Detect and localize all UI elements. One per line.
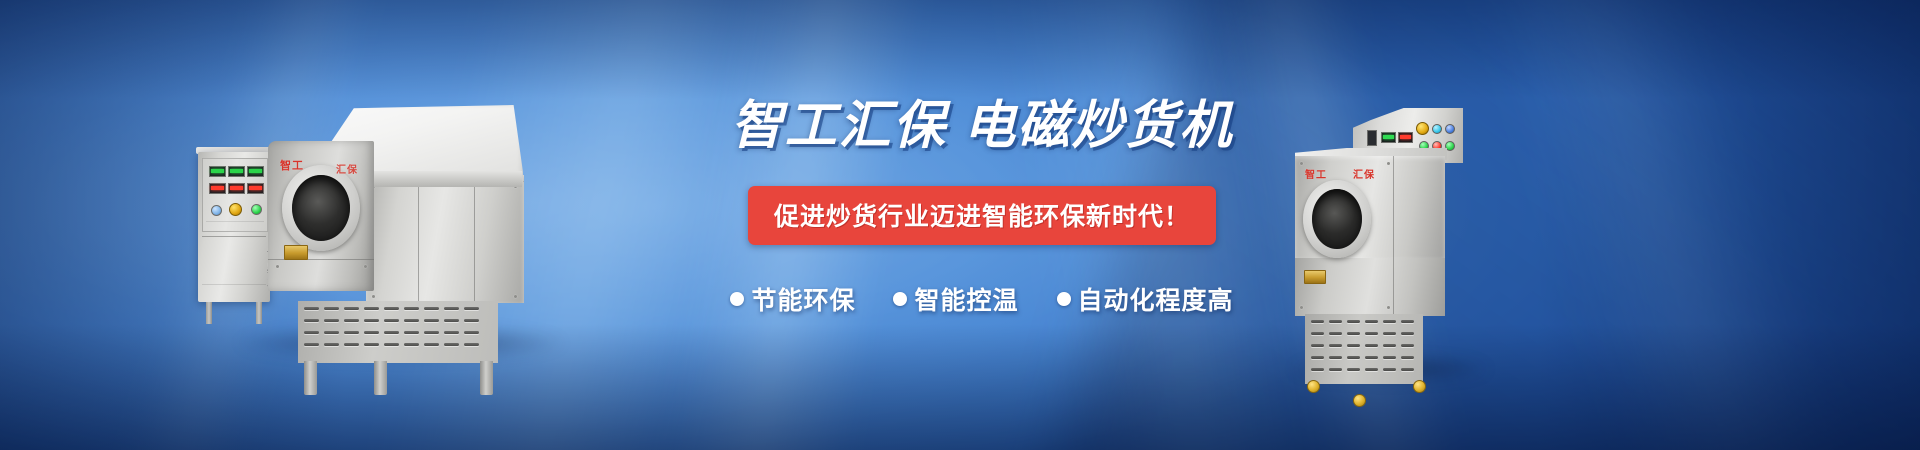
right-logo-right: 汇保 <box>1353 166 1375 181</box>
cabinet-door-seam <box>202 236 266 237</box>
rivet <box>364 265 367 268</box>
display-power <box>1367 130 1377 146</box>
emergency-stop-knob[interactable] <box>229 203 242 216</box>
bullet-dot-icon <box>730 292 744 306</box>
drum-inner-highlight <box>1322 232 1350 248</box>
right-machine-lower-body <box>1295 258 1445 316</box>
machine-foot-left <box>304 361 317 395</box>
rivet <box>1300 306 1303 309</box>
right-drum-opening <box>1303 180 1371 258</box>
right-machine-nameplate <box>1304 270 1326 284</box>
machine-foot-mid <box>374 361 387 395</box>
right-logo-left: 智工 <box>1305 166 1327 181</box>
rivet <box>1300 162 1303 165</box>
drum-opening <box>282 165 360 251</box>
right-roasting-machine: 智工 汇保 <box>1295 108 1485 343</box>
display-timer <box>1398 132 1413 143</box>
feature-item-smart-temp: 智能控温 <box>893 281 1018 317</box>
rivet <box>276 265 279 268</box>
panel-seam <box>206 221 264 222</box>
display-temperature <box>1381 132 1396 143</box>
banner-subtitle-pill: 促进炒货行业迈进智能环保新时代！ <box>748 186 1216 245</box>
display-temperature <box>209 166 226 177</box>
cabinet-leg-right <box>256 302 262 324</box>
cabinet-legs <box>204 302 264 324</box>
left-control-cabinet: 许昌智工 <box>198 152 270 302</box>
promo-banner: 许昌智工 智工 汇保 <box>0 0 1920 450</box>
feature-label: 节能环保 <box>751 281 855 317</box>
cabinet-front-panel <box>202 158 268 232</box>
switch-button[interactable] <box>211 205 222 216</box>
caster-wheel-left <box>1307 380 1320 393</box>
drum-brand-logo: 智工 <box>280 157 304 173</box>
machine-nameplate <box>284 245 308 260</box>
machine-vent-grille <box>298 301 498 363</box>
cabinet-vertical-seam <box>418 177 419 303</box>
display-time <box>228 166 245 177</box>
rivet <box>1387 306 1390 309</box>
display-setpoint-2 <box>228 183 245 194</box>
start-button[interactable] <box>251 204 262 215</box>
feature-label: 智能控温 <box>914 281 1018 317</box>
machine-cabinet <box>366 175 524 303</box>
rivet <box>514 295 517 298</box>
cabinet-leg-left <box>206 302 212 324</box>
feature-list: 节能环保 智能控温 自动化程度高 <box>702 281 1262 317</box>
banner-copy: 智工汇保 电磁炒货机 促进炒货行业迈进智能环保新时代！ 节能环保 智能控温 自动… <box>702 100 1262 317</box>
display-setpoint-1 <box>209 183 226 194</box>
cabinet-door-seam-2 <box>202 284 266 285</box>
body-seam-lower <box>1393 258 1394 316</box>
display-power <box>247 166 264 177</box>
body-seam <box>1393 156 1394 258</box>
control-button-2[interactable] <box>1445 124 1455 134</box>
emergency-stop-knob[interactable] <box>1416 122 1429 135</box>
feature-label: 自动化程度高 <box>1078 281 1234 317</box>
right-machine-vent-grille <box>1305 314 1423 384</box>
bullet-dot-icon <box>1057 292 1071 306</box>
display-setpoint-3 <box>247 183 264 194</box>
bullet-dot-icon <box>893 292 907 306</box>
control-button-1[interactable] <box>1432 124 1442 134</box>
machine-foot-right <box>480 361 493 395</box>
caster-wheel-front <box>1353 394 1366 407</box>
left-roasting-machine: 智工 汇保 <box>268 105 543 340</box>
cabinet-brand-logo: 汇保 <box>336 161 358 176</box>
feature-item-energy-saving: 节能环保 <box>730 281 855 317</box>
drum-inner-highlight <box>305 220 337 240</box>
banner-headline: 智工汇保 电磁炒货机 <box>702 100 1262 152</box>
rivet <box>372 295 375 298</box>
caster-wheel-right <box>1413 380 1426 393</box>
feature-item-automation: 自动化程度高 <box>1057 281 1234 317</box>
cabinet-vertical-seam-2 <box>474 177 475 303</box>
rivet <box>1387 162 1390 165</box>
banner-subtitle-wrap: 促进炒货行业迈进智能环保新时代！ <box>702 186 1262 245</box>
